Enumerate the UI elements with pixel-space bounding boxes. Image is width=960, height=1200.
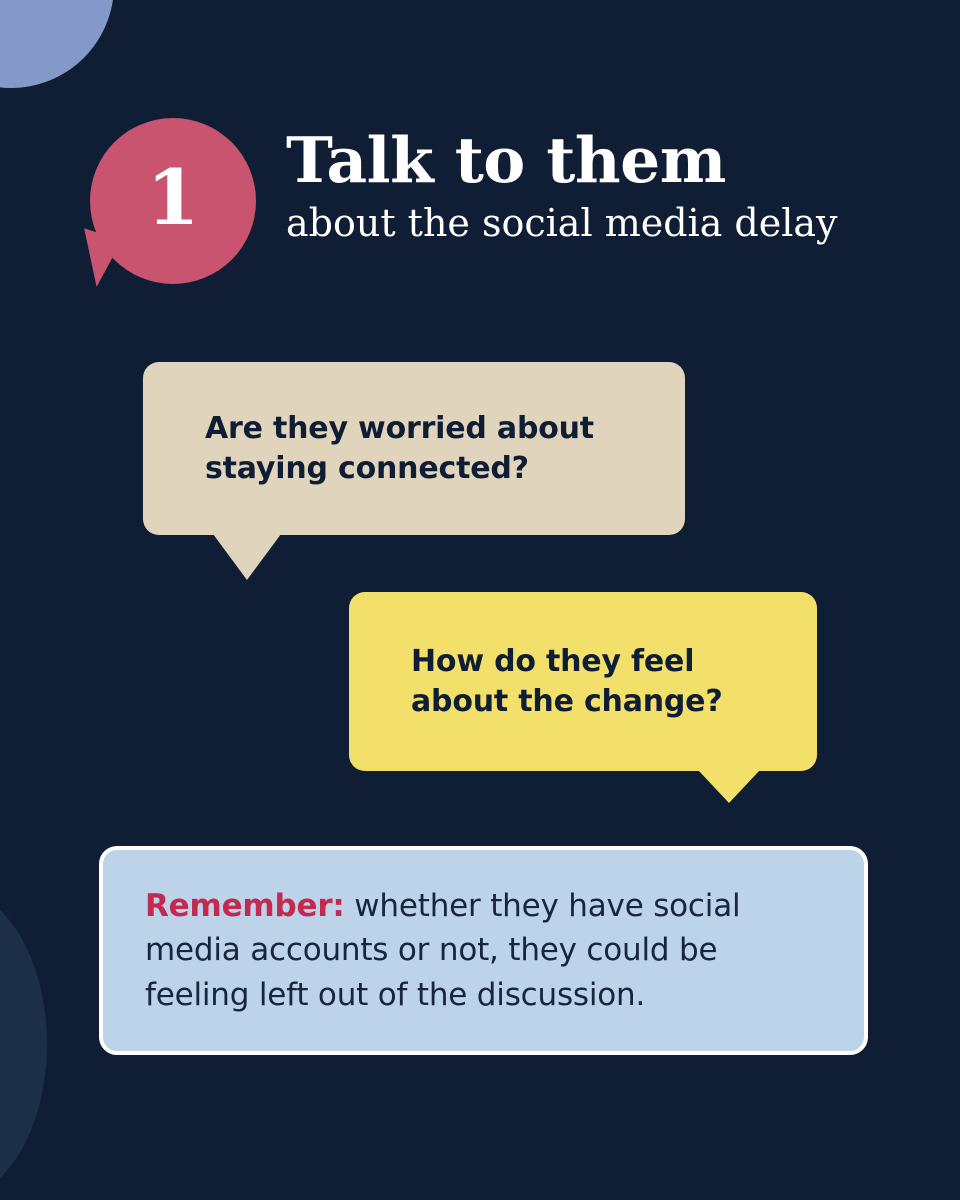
speech-bubble-beige-text: Are they worried about staying connected… bbox=[205, 409, 594, 488]
page-subtitle: about the social media delay bbox=[286, 202, 926, 246]
speech-bubble-yellow: How do they feel about the change? bbox=[349, 592, 817, 771]
speech-bubble-yellow-body: How do they feel about the change? bbox=[349, 592, 817, 771]
remember-note-lead: Remember: bbox=[145, 888, 345, 924]
decorative-circle-top-left bbox=[0, 0, 114, 88]
heading-block: Talk to them about the social media dela… bbox=[286, 128, 926, 246]
speech-bubble-yellow-tail-icon bbox=[698, 770, 760, 803]
speech-bubble-beige: Are they worried about staying connected… bbox=[143, 362, 685, 535]
speech-bubble-yellow-text: How do they feel about the change? bbox=[411, 642, 723, 721]
speech-bubble-beige-tail-icon bbox=[213, 534, 281, 580]
decorative-circle-bottom-left bbox=[0, 888, 47, 1200]
step-number-badge: 1 bbox=[88, 116, 260, 288]
infographic-canvas: 1 Talk to them about the social media de… bbox=[0, 0, 960, 1200]
remember-note-text: Remember: whether they have social media… bbox=[103, 884, 864, 1016]
remember-note-card: Remember: whether they have social media… bbox=[99, 846, 868, 1055]
badge-circle: 1 bbox=[90, 118, 256, 284]
step-number-label: 1 bbox=[147, 160, 200, 242]
speech-bubble-beige-body: Are they worried about staying connected… bbox=[143, 362, 685, 535]
page-title: Talk to them bbox=[286, 128, 926, 192]
